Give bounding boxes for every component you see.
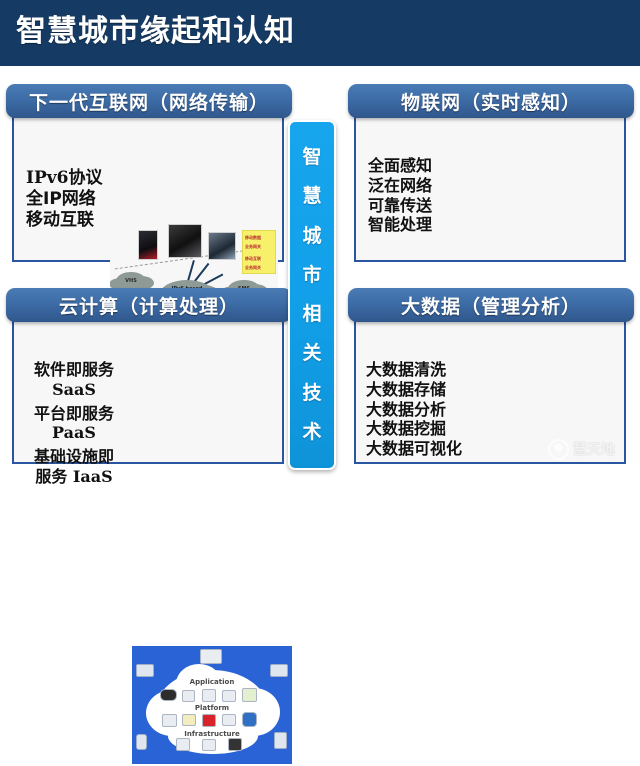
device-thumb-desktop [208,232,236,260]
cloud-layer-label: Platform [176,704,248,712]
bullet-line: 大数据可视化 [366,439,462,459]
watermark: ☻ 慧天地 [548,436,634,462]
panel-header-internet-of-things[interactable]: 物联网（实时感知） [348,84,634,118]
banner-char: 术 [302,423,321,442]
slide-header: 智慧城市缘起和认知 [0,0,640,66]
bullet-line: 全IP网络 [26,189,102,210]
banner-char: 慧 [302,187,321,206]
bullet-line: 基础设施即 服务 IaaS [20,447,128,487]
banner-char: 技 [302,384,321,403]
panel-bullets: 全面感知 泛在网络 可靠传送 智能处理 [368,156,432,235]
bullet-sub: 服务 IaaS [20,467,128,487]
page-title: 智慧城市缘起和认知 [16,10,295,54]
bullet-line: 大数据挖掘 [366,419,462,439]
bullet-line: 大数据存储 [366,380,462,400]
panel-title: 大数据（管理分析） [401,292,581,319]
slide-root: 智慧城市缘起和认知 移动数据 业务网关 移动互联 业务网关 [0,0,640,480]
cloud-layer-label: Infrastructure [170,730,254,738]
center-banner-smart-city-technologies: 智 慧 城 市 相 关 技 术 [288,120,336,470]
bullet-line: 可靠传送 [368,196,432,216]
banner-char: 市 [302,266,321,285]
bullet-line: 大数据清洗 [366,360,462,380]
cloud-stack-artwork: Application Platform Infrastructure [130,644,294,766]
bullet-line: 全面感知 [368,156,432,176]
bullet-line: 移动互联 [26,210,102,231]
panel-body: Application Platform Infrastructure [12,312,284,464]
panel-bullets: 软件即服务 SaaS 平台即服务 PaaS 基础设施即 服务 IaaS [20,360,128,487]
watermark-text: 慧天地 [573,439,615,459]
panel-bullets: 大数据清洗 大数据存储 大数据分析 大数据挖掘 大数据可视化 [366,360,462,459]
device-thumb-phone [138,230,158,260]
panel-internet-of-things[interactable]: 10110 1001 101101 1101 1010 全面感知 泛在网络 可靠… [348,84,634,274]
bullet-line: 泛在网络 [368,176,432,196]
bullet-line: 软件即服务 SaaS [20,360,128,400]
cloud-layer-label: Application [176,678,248,686]
watermark-logo-icon: ☻ [548,439,569,460]
bullet-sub: PaaS [20,423,128,443]
bullet-line: IPv6协议 [26,168,102,189]
panel-title: 下一代互联网（网络传输） [29,88,269,115]
panel-title: 云计算（计算处理） [59,292,239,319]
panel-next-generation-internet[interactable]: 移动数据 业务网关 移动互联 业务网关 IPv6 based宽带核心网络 [6,84,292,274]
panel-body: 10110 1001 101101 1101 1010 全面感知 泛在网络 可靠… [354,108,626,262]
bullet-sub: SaaS [20,380,128,400]
banner-char: 关 [302,344,321,363]
panel-cloud-computing[interactable]: Application Platform Infrastructure [6,288,292,474]
panel-title: 物联网（实时感知） [401,88,581,115]
device-thumb-laptop [168,224,202,258]
panel-body: 移动数据 业务网关 移动互联 业务网关 IPv6 based宽带核心网络 [12,108,284,262]
banner-char: 智 [302,148,321,167]
bullet-line: 大数据分析 [366,400,462,420]
panel-header-next-generation-internet[interactable]: 下一代互联网（网络传输） [6,84,292,118]
bullet-line: 智能处理 [368,215,432,235]
bullet-main: 基础设施即 [34,447,114,466]
panel-header-cloud-computing[interactable]: 云计算（计算处理） [6,288,292,322]
banner-char: 相 [302,305,321,324]
panel-header-big-data[interactable]: 大数据（管理分析） [348,288,634,322]
bullet-main: 平台即服务 [34,404,114,423]
panel-bullets: IPv6协议 全IP网络 移动互联 [26,168,102,231]
header-divider [0,66,640,69]
bullet-main: 软件即服务 [34,360,114,379]
banner-char: 城 [302,227,321,246]
bullet-line: 平台即服务 PaaS [20,404,128,444]
callout-note: 移动数据 业务网关 移动互联 业务网关 [242,230,276,274]
